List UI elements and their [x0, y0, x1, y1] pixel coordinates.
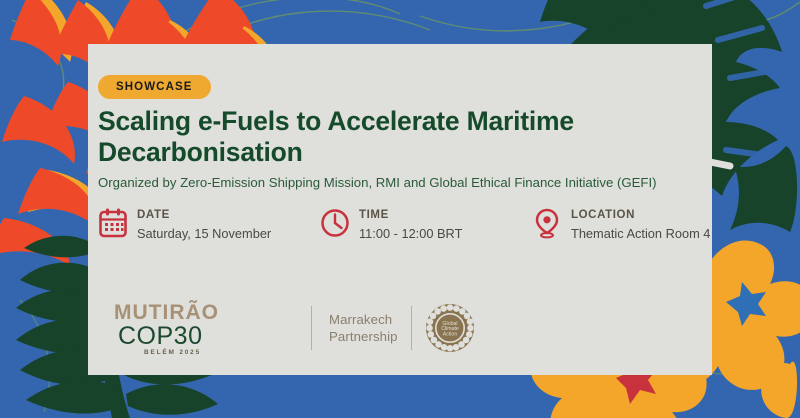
logo-divider-2 — [411, 306, 412, 350]
event-card: SHOWCASE Scaling e-Fuels to Accelerate M… — [88, 44, 712, 375]
calendar-icon — [98, 207, 128, 239]
date-label: DATE — [137, 209, 271, 223]
cop30-name-text: COP30 — [118, 322, 202, 350]
time-label: TIME — [359, 209, 462, 223]
time-value: 11:00 - 12:00 BRT — [359, 226, 462, 241]
event-title: Scaling e-Fuels to Accelerate Maritime D… — [98, 106, 698, 168]
marrakech-partnership-logo: Marrakech Partnership — [329, 311, 398, 346]
event-title-line2: Decarbonisation — [98, 137, 303, 167]
event-location-item: LOCATION Thematic Action Room 4 — [532, 207, 710, 241]
cop30-logo: MUTIRÃO COP30 BELÉM 2025 — [110, 297, 295, 359]
event-title-line1: Scaling e-Fuels to Accelerate Maritime — [98, 106, 574, 136]
event-time-item: TIME 11:00 - 12:00 BRT — [320, 207, 462, 241]
clock-icon — [320, 207, 350, 239]
location-value: Thematic Action Room 4 — [571, 226, 710, 241]
event-details-row: DATE Saturday, 15 November TIME 11:00 - … — [98, 207, 698, 253]
location-pin-icon — [532, 207, 562, 239]
logo-divider-1 — [311, 306, 312, 350]
event-poster: SHOWCASE Scaling e-Fuels to Accelerate M… — [0, 0, 800, 418]
cop30-place-text: BELÉM 2025 — [144, 347, 201, 356]
showcase-badge: SHOWCASE — [98, 75, 211, 99]
marrakech-line-2: Partnership — [329, 328, 398, 345]
global-climate-action-seal: Global Climate Action — [425, 303, 475, 353]
location-label: LOCATION — [571, 209, 710, 223]
event-organizers: Organized by Zero-Emission Shipping Miss… — [98, 174, 708, 191]
date-value: Saturday, 15 November — [137, 226, 271, 241]
logo-row: MUTIRÃO COP30 BELÉM 2025 Marrakech Partn… — [110, 297, 475, 359]
event-date-item: DATE Saturday, 15 November — [98, 207, 271, 241]
seal-line-3: Action — [442, 331, 457, 337]
cop30-mutirao-text: MUTIRÃO — [114, 301, 219, 324]
marrakech-line-1: Marrakech — [329, 311, 398, 328]
